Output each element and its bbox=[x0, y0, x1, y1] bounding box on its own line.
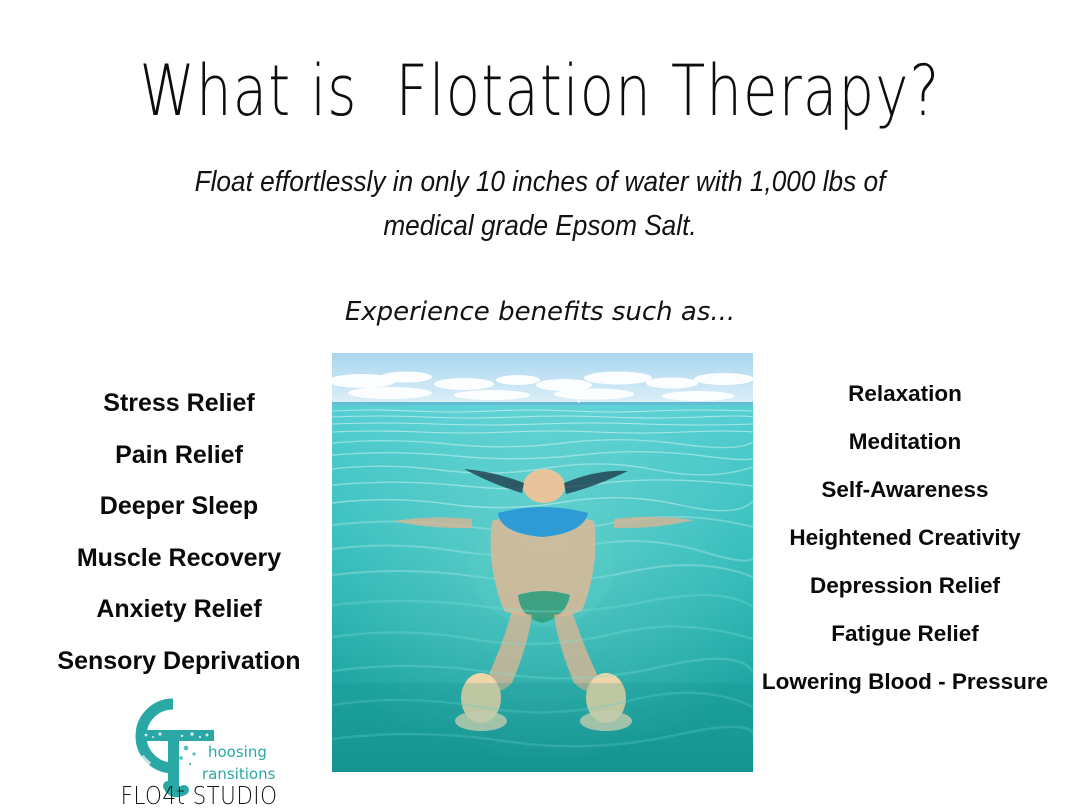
benefit-item: Heightened Creativity bbox=[750, 514, 1060, 562]
benefit-item: Muscle Recovery bbox=[14, 533, 344, 585]
poster-subtitle: Float effortlessly in only 10 inches of … bbox=[172, 160, 908, 248]
logo-studio-name: FLO4t STUDIO bbox=[121, 781, 278, 808]
logo-word-hoosing: hoosing bbox=[208, 743, 267, 761]
benefit-item: Meditation bbox=[750, 418, 1060, 466]
flotation-therapy-poster: What is Flotation Therapy? Float effortl… bbox=[0, 0, 1080, 808]
benefit-item: Lowering Blood - Pressure bbox=[750, 658, 1060, 706]
benefits-list-left: Stress Relief Pain Relief Deeper Sleep M… bbox=[14, 378, 344, 687]
benefit-item: Pain Relief bbox=[14, 430, 344, 482]
benefit-item: Relaxation bbox=[750, 370, 1060, 418]
page-title: What is Flotation Therapy? bbox=[108, 56, 972, 126]
distant-boat bbox=[578, 397, 580, 403]
benefit-item: Anxiety Relief bbox=[14, 584, 344, 636]
benefit-item: Deeper Sleep bbox=[14, 481, 344, 533]
benefit-item: Stress Relief bbox=[14, 378, 344, 430]
benefit-item: Sensory Deprivation bbox=[14, 636, 344, 688]
poster-tagline: Experience benefits such as... bbox=[190, 294, 890, 330]
benefit-item: Self-Awareness bbox=[750, 466, 1060, 514]
logo-word-ransitions: ransitions bbox=[202, 765, 276, 783]
ocean-illustration bbox=[332, 353, 753, 772]
choosing-transitions-logo: hoosing ransitions FLO4t STUDIO bbox=[112, 694, 322, 808]
benefits-list-right: Relaxation Meditation Self-Awareness Hei… bbox=[750, 370, 1060, 706]
logo-artwork: hoosing ransitions FLO4t STUDIO bbox=[112, 694, 322, 808]
benefit-item: Depression Relief bbox=[750, 562, 1060, 610]
floating-person-photo bbox=[332, 353, 753, 772]
benefit-item: Fatigue Relief bbox=[750, 610, 1060, 658]
